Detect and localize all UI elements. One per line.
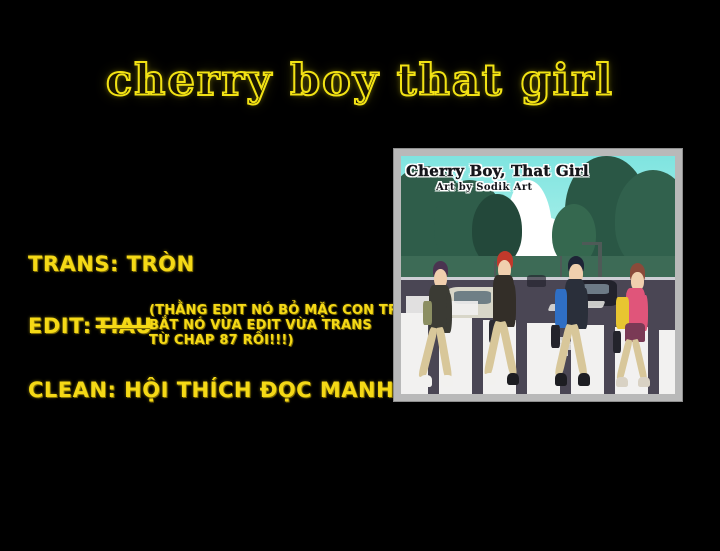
edit-note-line-1: (THẰNG EDIT NÓ BỎ MẶC CON TRANS [149,303,429,318]
street-lamp-right-arm [582,242,601,245]
walker-3-leg-front [571,323,589,376]
walker-3-arm-front [581,288,587,329]
walker-girl-pink-top [609,263,669,394]
walker-2-shoe-front [507,373,519,386]
credit-trans: TRANS: TRÒN [28,252,195,276]
walker-4-hand-bag [613,331,621,353]
walker-3-shoe-front [578,373,590,385]
walker-4-leg-front [631,339,647,380]
walker-1-leg-back [418,327,438,378]
artwork-caption-artist: Art by Sodik Art [406,182,669,193]
credit-edit-label: EDIT: [28,314,92,338]
walker-4-shoe-back [616,377,627,387]
edit-note-line-3: TỪ CHAP 87 RỒI!!!) [149,333,429,348]
walker-boy-purple-hair [415,261,475,394]
walker-boy-red-hair [478,251,538,394]
artwork-caption: Cherry Boy, That Girl Art by Sodik Art [406,162,669,193]
walker-3-hand-bag [551,325,559,348]
artwork-panel: Cherry Boy, That Girl Art by Sodik Art [393,148,683,402]
artwork-caption-title: Cherry Boy, That Girl [406,162,669,180]
credit-edit: EDIT:TIAU [28,314,152,338]
walker-1-arm-front [446,293,452,333]
walker-2-leg-front [499,321,519,376]
walker-1-shoulder-bag [423,301,431,325]
walker-3-backpack [555,289,567,328]
walker-3-shoe-back [555,373,567,385]
edit-note-line-2: BẮT NÓ VỪA EDIT VỪA TRANS [149,318,429,333]
walker-2-arm-front [510,284,516,327]
walker-1-shoe-front [441,375,453,387]
walker-4-shoe-front [638,377,649,387]
walker-2-shoe-back [484,373,496,386]
credit-edit-name-struck: TIAU [96,314,153,338]
walker-1-shoe-back [420,375,432,387]
walker-1-leg-front [436,327,453,378]
page-title: cherry boy that girl [0,56,720,106]
credit-clean: CLEAN: HỘI THÍCH ĐỌC MANHWA [28,378,434,402]
artwork-illustration: Cherry Boy, That Girl Art by Sodik Art [401,156,675,394]
walker-boy-blue-backpack [549,256,609,394]
edit-note: (THẰNG EDIT NÓ BỎ MẶC CON TRANS BẮT NÓ V… [149,303,429,348]
